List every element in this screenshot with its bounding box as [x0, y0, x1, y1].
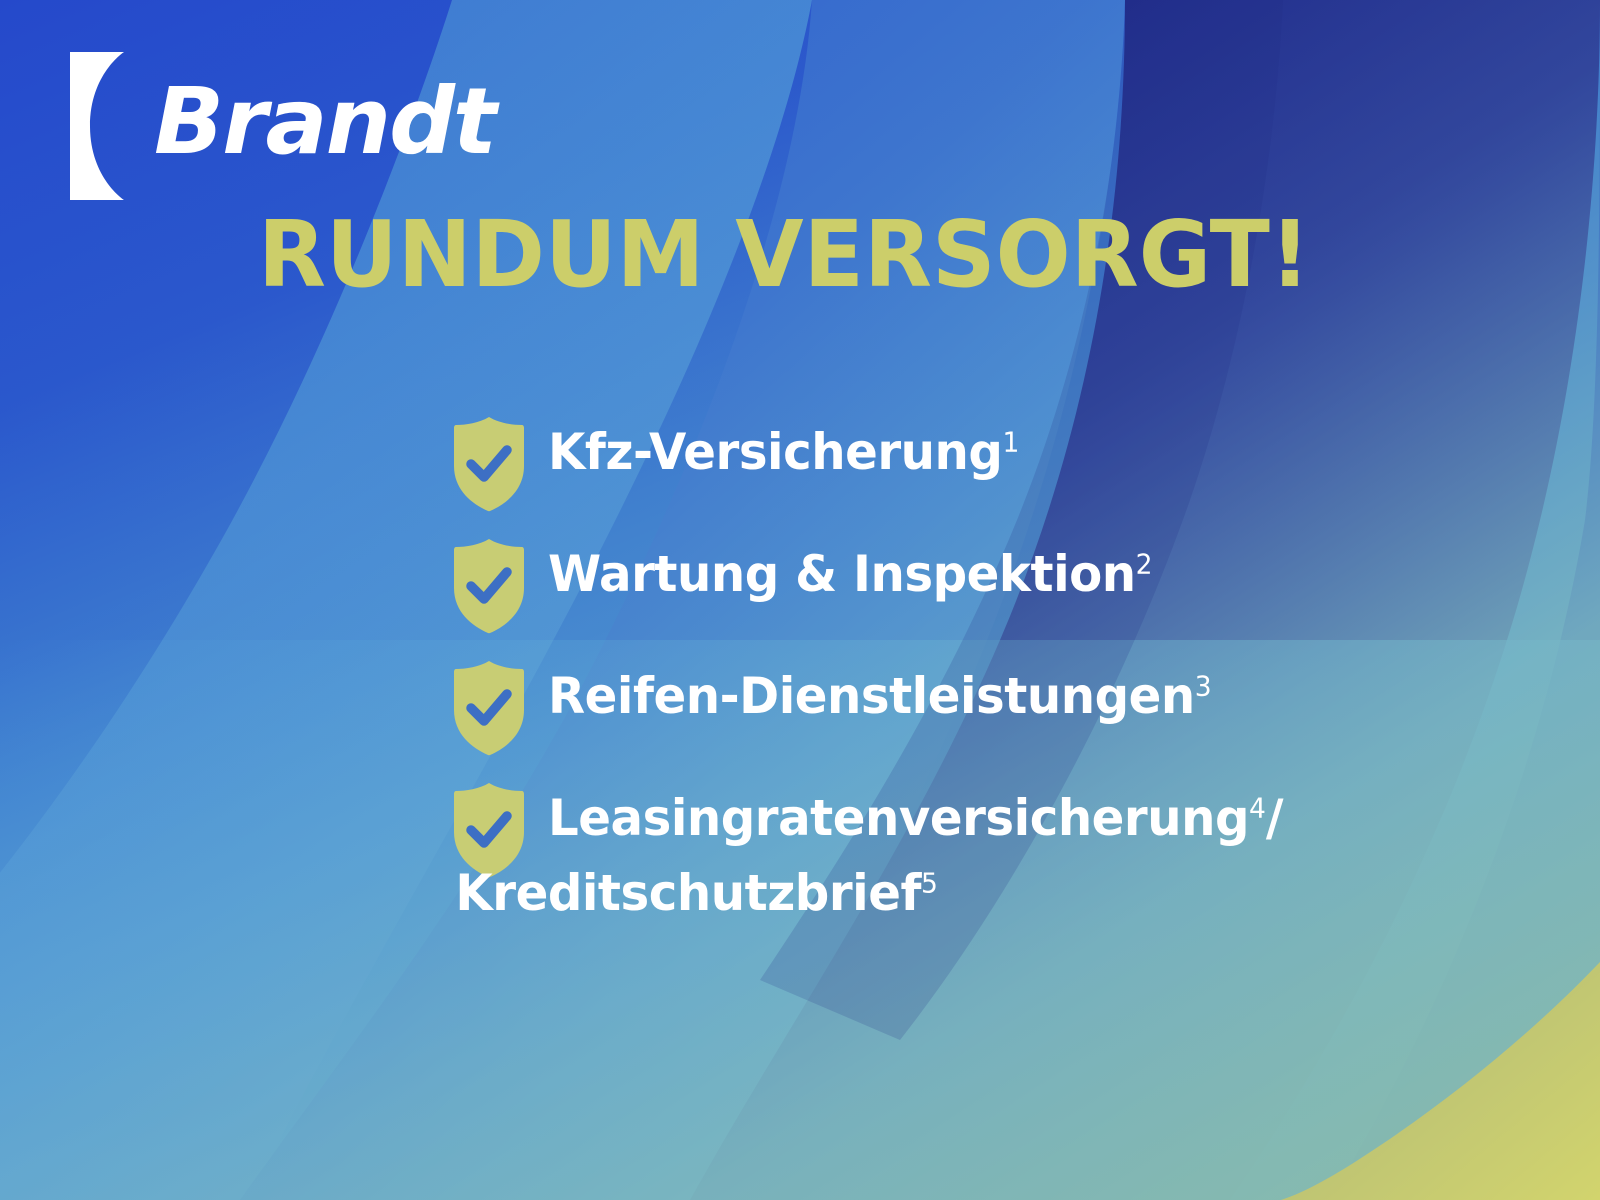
list-item-text: Reifen-Dienstleistungen: [548, 667, 1195, 725]
list-item-line2: Kreditschutzbrief5: [455, 853, 1283, 934]
list-item: Leasingratenversicherung4/ Kreditschutzb…: [452, 778, 1552, 934]
footnote-marker: 4: [1249, 792, 1266, 824]
brandt-wordmark: Brandt: [154, 76, 495, 168]
shield-check-icon: [452, 660, 526, 756]
page-title: RUNDUM VERSORGT!: [258, 206, 1310, 304]
list-item: Reifen-Dienstleistungen3: [452, 656, 1552, 760]
shield-check-icon: [452, 538, 526, 634]
list-item-text: Kfz-Versicherung: [548, 423, 1002, 481]
brandt-bracket-mark-icon: [70, 52, 148, 200]
list-item: Kfz-Versicherung1: [452, 412, 1552, 516]
list-item-label: Wartung & Inspektion2: [548, 534, 1153, 615]
list-item-label: Leasingratenversicherung4/ Kreditschutzb…: [548, 778, 1283, 934]
list-item-separator: /: [1266, 789, 1283, 847]
list-item-label: Kfz-Versicherung1: [548, 412, 1019, 493]
list-item-text-line2: Kreditschutzbrief: [455, 864, 921, 922]
list-item-label: Reifen-Dienstleistungen3: [548, 656, 1212, 737]
list-item-text: Leasingratenversicherung: [548, 789, 1249, 847]
list-item-text: Wartung & Inspektion: [548, 545, 1136, 603]
brandt-logo: Brandt: [70, 52, 495, 200]
list-item: Wartung & Inspektion2: [452, 534, 1552, 638]
feature-list: Kfz-Versicherung1 Wartung & Inspektion2: [452, 412, 1552, 952]
footnote-marker: 3: [1195, 670, 1212, 702]
footnote-marker: 2: [1136, 548, 1153, 580]
marketing-graphic: Brandt RUNDUM VERSORGT! Kfz-Versicherung…: [0, 0, 1600, 1200]
footnote-marker: 1: [1002, 426, 1019, 458]
footnote-marker: 5: [921, 867, 938, 899]
shield-check-icon: [452, 416, 526, 512]
